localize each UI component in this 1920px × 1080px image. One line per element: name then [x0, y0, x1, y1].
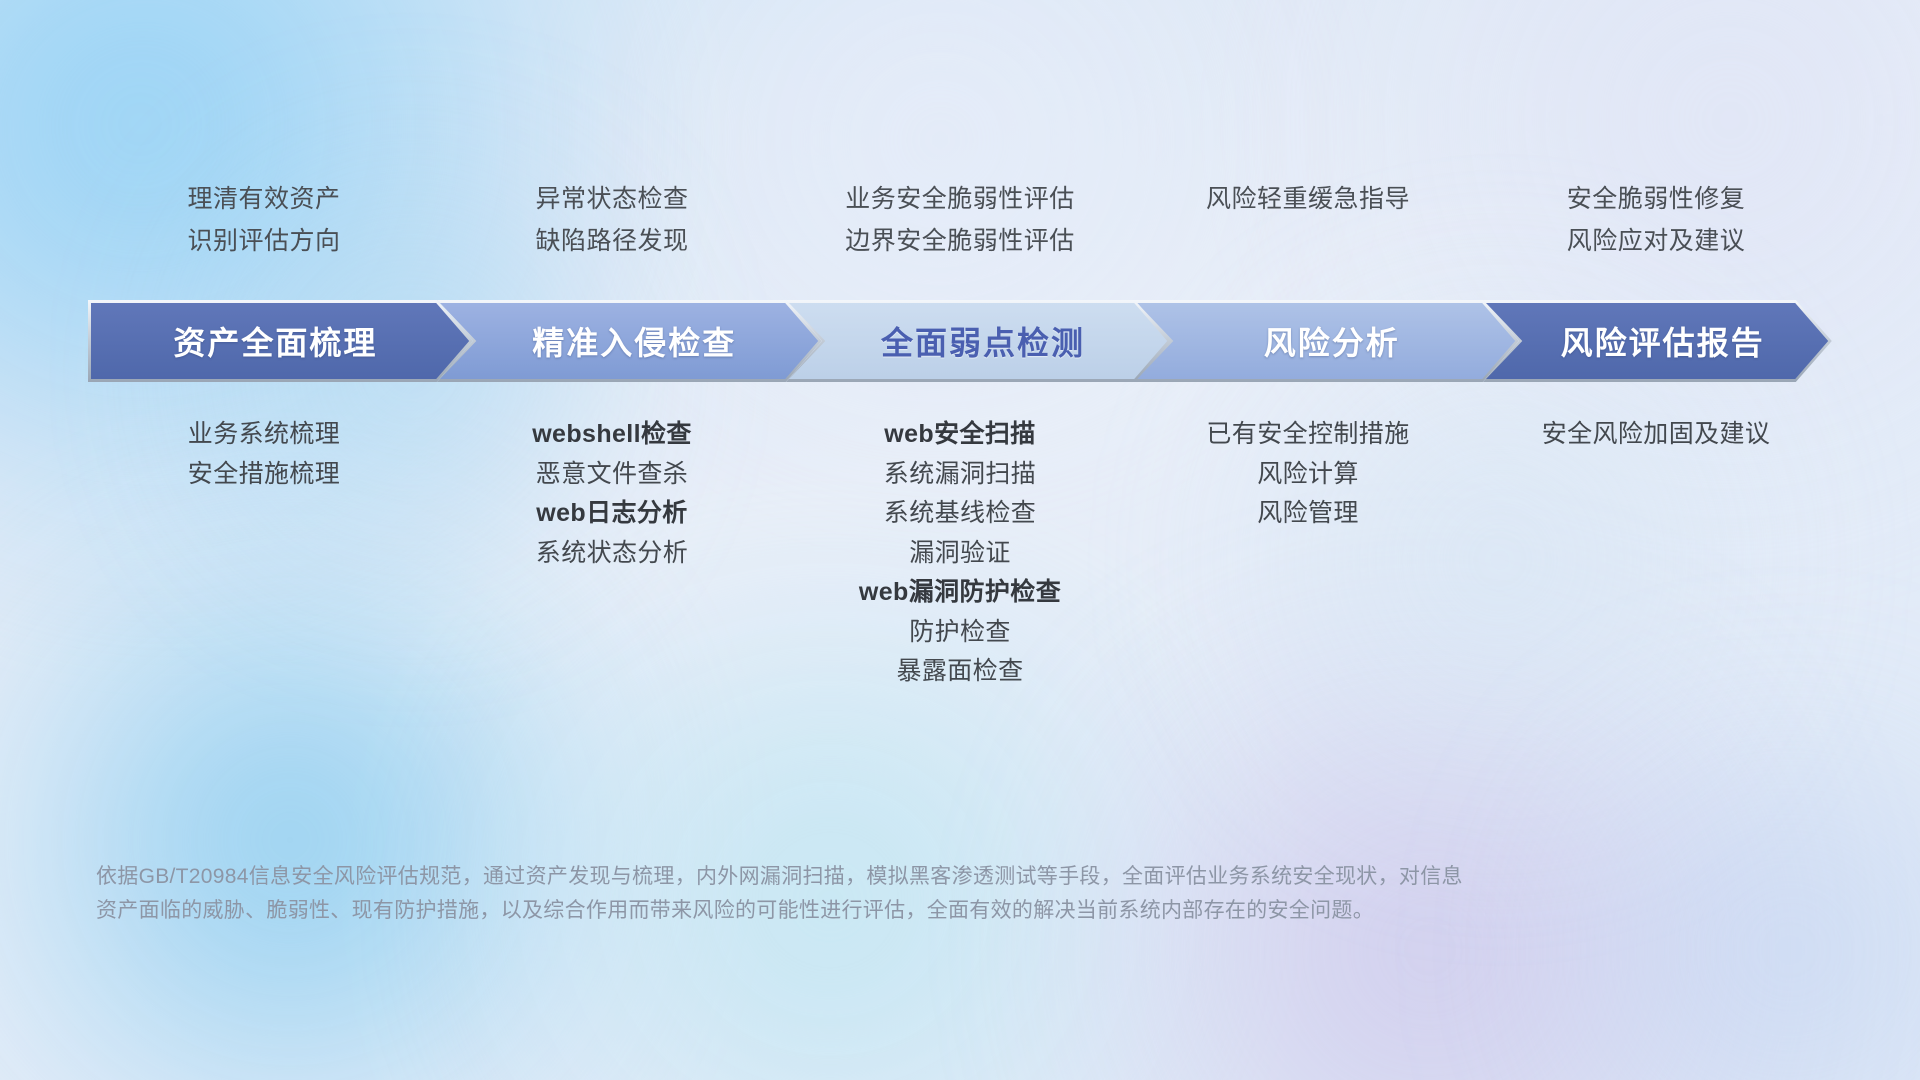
- bottom-list-item: 恶意文件查杀: [438, 455, 786, 495]
- process-chevron-band: 资产全面梳理精准入侵检查全面弱点检测风险分析风险评估报告: [88, 300, 1832, 382]
- footer-description: 依据GB/T20984信息安全风险评估规范，通过资产发现与梳理，内外网漏洞扫描，…: [96, 860, 1616, 928]
- top-notes-row: 理清有效资产识别评估方向异常状态检查缺陷路径发现业务安全脆弱性评估边界安全脆弱性…: [90, 178, 1830, 262]
- diagram-stage: 理清有效资产识别评估方向异常状态检查缺陷路径发现业务安全脆弱性评估边界安全脆弱性…: [0, 0, 1920, 1080]
- bottom-list-item: 安全措施梳理: [90, 455, 438, 495]
- top-note-cell-risk-report: 安全脆弱性修复风险应对及建议: [1482, 178, 1830, 262]
- process-step-label: 全面弱点检测: [881, 318, 1085, 364]
- process-step-label: 风险评估报告: [1561, 318, 1765, 364]
- bottom-list-item: web日志分析: [438, 494, 786, 534]
- process-step-label: 风险分析: [1264, 318, 1400, 364]
- top-note-cell-risk-analysis: 风险轻重缓急指导: [1134, 178, 1482, 262]
- top-note-cell-intrusion-check: 异常状态检查缺陷路径发现: [438, 178, 786, 262]
- process-step-risk-analysis[interactable]: 风险分析: [1134, 300, 1519, 382]
- bottom-list-risk-analysis: 已有安全控制措施风险计算风险管理: [1134, 415, 1482, 692]
- bottom-list-item: 漏洞验证: [786, 534, 1134, 574]
- bottom-list-item: web安全扫描: [786, 415, 1134, 455]
- bottom-list-item: web漏洞防护检查: [786, 573, 1134, 613]
- bottom-list-item: 已有安全控制措施: [1134, 415, 1482, 455]
- bottom-list-weakness-detection: web安全扫描系统漏洞扫描系统基线检查漏洞验证web漏洞防护检查防护检查暴露面检…: [786, 415, 1134, 692]
- bottom-list-item: 安全风险加固及建议: [1482, 415, 1830, 455]
- bottom-list-item: 业务系统梳理: [90, 415, 438, 455]
- top-note-line: 安全脆弱性修复: [1482, 178, 1830, 220]
- process-step-label: 资产全面梳理: [173, 318, 377, 364]
- bottom-list-item: 暴露面检查: [786, 652, 1134, 692]
- top-note-line: 识别评估方向: [90, 220, 438, 262]
- bottom-list-asset-inventory: 业务系统梳理安全措施梳理: [90, 415, 438, 692]
- top-note-cell-asset-inventory: 理清有效资产识别评估方向: [90, 178, 438, 262]
- bottom-list-intrusion-check: webshell检查恶意文件查杀web日志分析系统状态分析: [438, 415, 786, 692]
- top-note-line: 缺陷路径发现: [438, 220, 786, 262]
- footer-line-1: 依据GB/T20984信息安全风险评估规范，通过资产发现与梳理，内外网漏洞扫描，…: [96, 860, 1616, 894]
- process-step-intrusion-check[interactable]: 精准入侵检查: [437, 300, 822, 382]
- top-note-line: 边界安全脆弱性评估: [786, 220, 1134, 262]
- process-step-asset-inventory[interactable]: 资产全面梳理: [88, 300, 473, 382]
- bottom-list-risk-report: 安全风险加固及建议: [1482, 415, 1830, 692]
- top-note-cell-weakness-detection: 业务安全脆弱性评估边界安全脆弱性评估: [786, 178, 1134, 262]
- top-note-line: 理清有效资产: [90, 178, 438, 220]
- bottom-lists-row: 业务系统梳理安全措施梳理webshell检查恶意文件查杀web日志分析系统状态分…: [90, 415, 1830, 692]
- bottom-list-item: 防护检查: [786, 613, 1134, 653]
- process-step-label: 精准入侵检查: [532, 318, 736, 364]
- process-step-risk-report[interactable]: 风险评估报告: [1483, 300, 1832, 382]
- process-step-weakness-detection[interactable]: 全面弱点检测: [786, 300, 1171, 382]
- footer-line-2: 资产面临的威胁、脆弱性、现有防护措施，以及综合作用而带来风险的可能性进行评估，全…: [96, 894, 1616, 928]
- top-note-line: 风险轻重缓急指导: [1134, 178, 1482, 220]
- bottom-list-item: webshell检查: [438, 415, 786, 455]
- bottom-list-item: 风险计算: [1134, 455, 1482, 495]
- bottom-list-item: 风险管理: [1134, 494, 1482, 534]
- top-note-line: 风险应对及建议: [1482, 220, 1830, 262]
- bottom-list-item: 系统状态分析: [438, 534, 786, 574]
- top-note-line: 异常状态检查: [438, 178, 786, 220]
- top-note-line: 业务安全脆弱性评估: [786, 178, 1134, 220]
- bottom-list-item: 系统漏洞扫描: [786, 455, 1134, 495]
- bottom-list-item: 系统基线检查: [786, 494, 1134, 534]
